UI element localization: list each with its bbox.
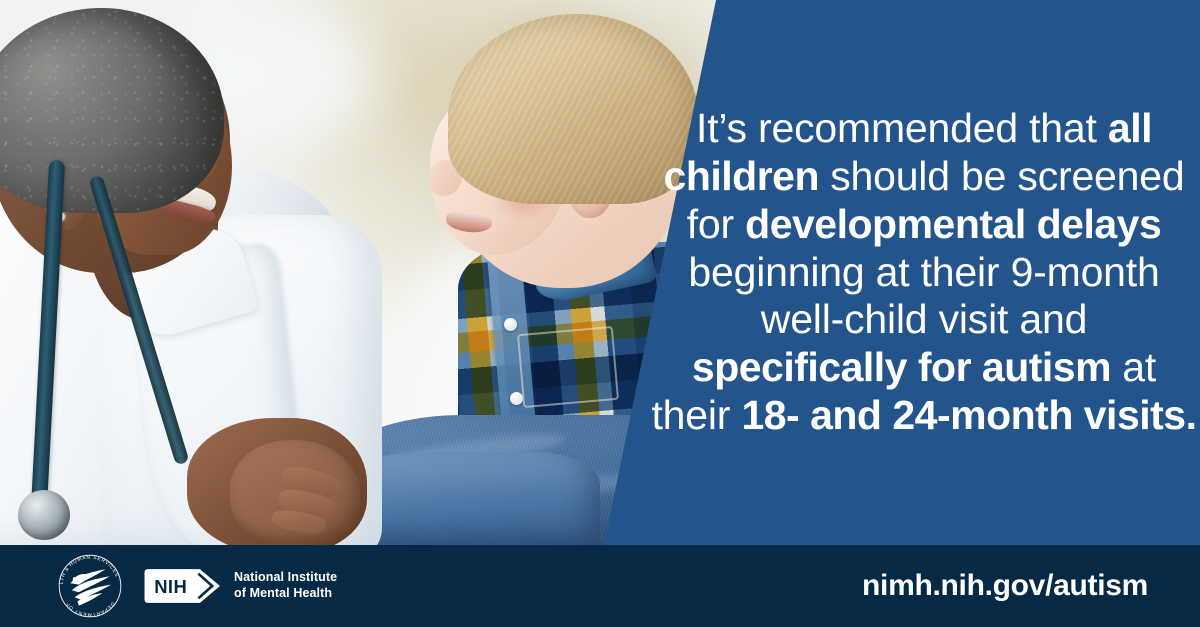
svg-text:DEPARTMENT OF: DEPARTMENT OF — [65, 601, 116, 618]
shirt-button — [510, 392, 523, 405]
shirt-pocket — [517, 326, 619, 408]
nih-line-2: of Mental Health — [234, 586, 337, 602]
footer-logos: HEALTH & HUMAN SERVICES · USA DEPARTMENT… — [55, 545, 337, 627]
website-url[interactable]: nimh.nih.gov/autism — [862, 545, 1148, 627]
headline-plain: It’s recommended that — [696, 105, 1108, 151]
footer-bar: HEALTH & HUMAN SERVICES · USA DEPARTMENT… — [0, 545, 1200, 627]
nih-logo: NIH National Institute of Mental Health — [143, 567, 337, 605]
shirt-button — [504, 318, 517, 331]
headline-text: It’s recommended that all children shoul… — [648, 105, 1200, 441]
headline-container: It’s recommended that all children shoul… — [648, 0, 1200, 545]
headline-emphasis: 18- and 24-month visits. — [741, 392, 1196, 438]
svg-text:HEALTH & HUMAN SERVICES · USA: HEALTH & HUMAN SERVICES · USA — [55, 551, 121, 584]
doctor-hair — [0, 8, 224, 213]
nih-wordmark: National Institute of Mental Health — [234, 570, 337, 601]
stethoscope-chestpiece — [18, 490, 70, 540]
hhs-seal-icon: HEALTH & HUMAN SERVICES · USA DEPARTMENT… — [55, 551, 125, 621]
svg-text:NIH: NIH — [154, 576, 187, 597]
doctor-figure — [0, 0, 342, 545]
headline-emphasis: developmental delays — [745, 201, 1161, 247]
nih-line-1: National Institute — [234, 570, 337, 586]
headline-plain: beginning at their 9-month well-child vi… — [688, 249, 1159, 343]
nih-logo-icon: NIH — [143, 567, 223, 605]
autism-screening-poster: It’s recommended that all children shoul… — [0, 0, 1200, 627]
headline-emphasis: specifically for autism — [692, 344, 1111, 390]
